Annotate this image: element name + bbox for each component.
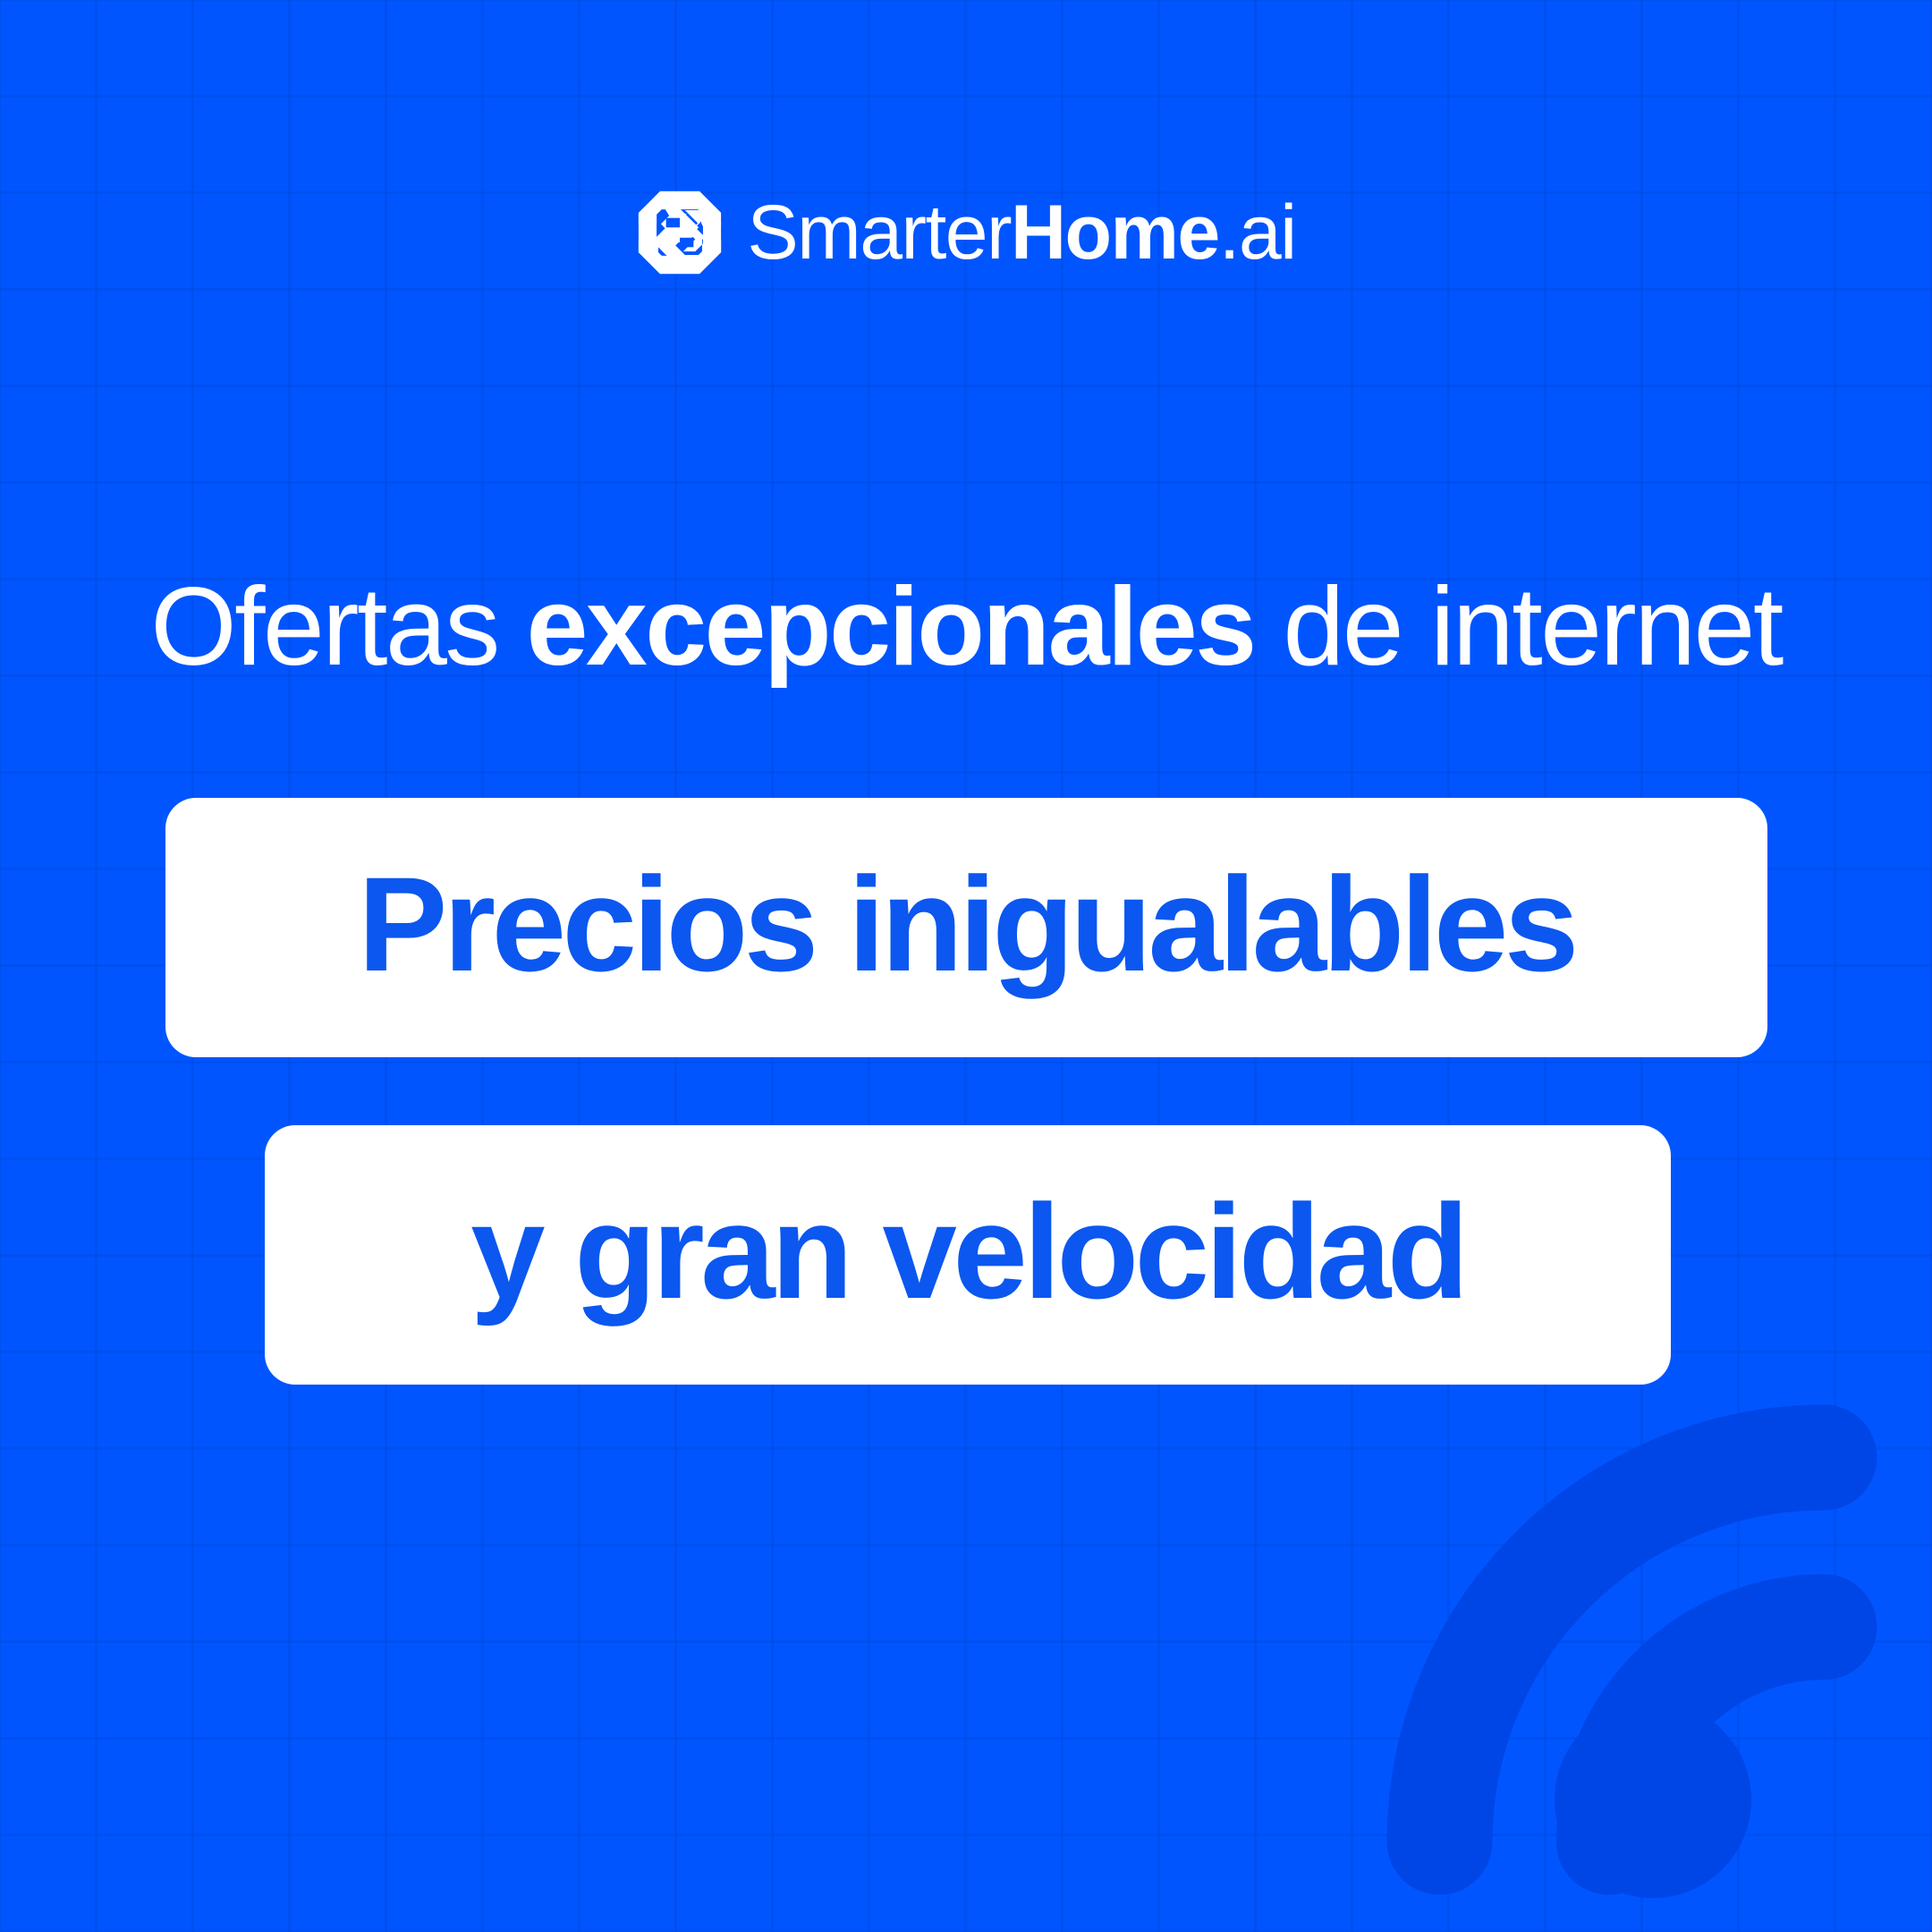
highlight-card-2: y gran velocidad — [265, 1125, 1671, 1385]
brand-logo: SmarterHome.ai — [0, 190, 1932, 275]
wordmark-smarter: Smarter — [747, 190, 1011, 275]
wordmark-home: Home — [1011, 190, 1219, 275]
wordmark-ai: .ai — [1219, 190, 1296, 275]
smarterhome-monogram-icon — [636, 190, 724, 275]
headline-emphasis: excepcionales — [526, 565, 1254, 689]
highlight-card-1: Precios inigualables — [165, 798, 1767, 1057]
highlight-card-2-label: y gran velocidad — [470, 1184, 1465, 1318]
page-title: Ofertas excepcionales de internet — [0, 571, 1932, 683]
highlight-card-1-label: Precios inigualables — [358, 857, 1575, 991]
brand-wordmark: SmarterHome.ai — [747, 194, 1295, 271]
headline-part-2: de internet — [1255, 565, 1782, 689]
headline-part-1: Ofertas — [150, 565, 526, 689]
promo-banner: SmarterHome.ai Ofertas excepcionales de … — [0, 0, 1932, 1932]
